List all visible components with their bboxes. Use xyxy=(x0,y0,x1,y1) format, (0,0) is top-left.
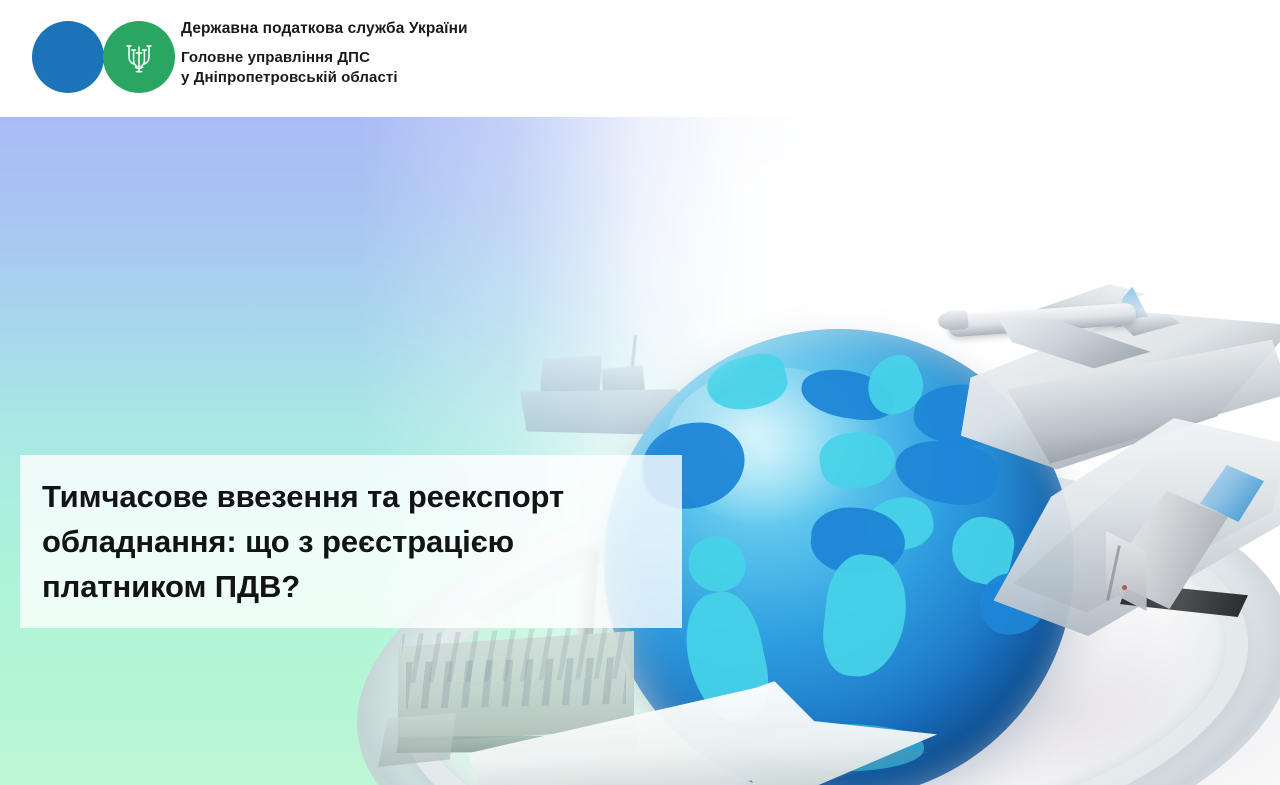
department-line-2: у Дніпропетровській області xyxy=(181,68,821,88)
headline-caption-box: Тимчасове ввезення та реекспорт обладнан… xyxy=(20,455,682,628)
factory-windows xyxy=(406,657,626,709)
org-name: Державна податкова служба України xyxy=(181,19,821,39)
dps-blue-circle-icon xyxy=(32,21,104,93)
site-header: Державна податкова служба України Головн… xyxy=(0,0,1280,117)
hero-banner: Тимчасове ввезення та реекспорт обладнан… xyxy=(0,117,1280,785)
ukrainian-trident-icon xyxy=(125,43,153,75)
page-root: Державна податкова служба України Головн… xyxy=(0,0,1280,785)
department-line-1: Головне управління ДПС xyxy=(181,48,821,68)
airplane-nose xyxy=(937,310,968,331)
cargo-truck-icon xyxy=(1096,435,1276,635)
truck-marker-light xyxy=(1122,585,1127,590)
headline-line-1: Тимчасове ввезення та реекспорт xyxy=(42,474,682,519)
headline-line-3: платником ПДВ? xyxy=(42,564,682,609)
logo-group[interactable] xyxy=(32,21,177,93)
org-text-block: Державна податкова служба України Головн… xyxy=(181,19,821,88)
airplane-icon xyxy=(930,285,1180,395)
illustration-stage xyxy=(0,117,1280,785)
cargo-crate xyxy=(378,713,456,767)
headline-line-2: обладнання: що з реєстрацією xyxy=(42,519,682,564)
